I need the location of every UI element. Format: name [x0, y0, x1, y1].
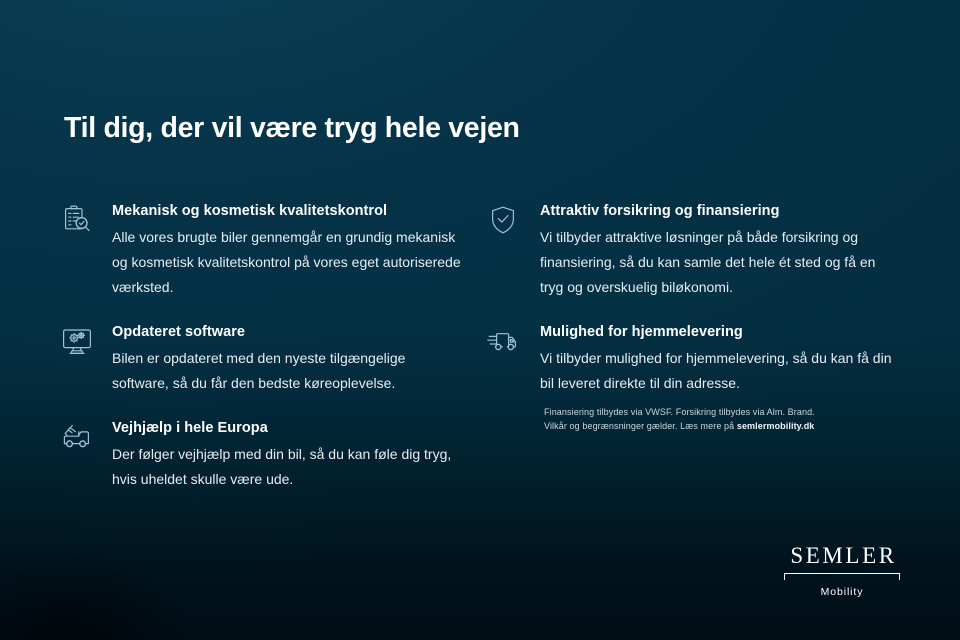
feature-text: Der følger vejhjælp med din bil, så du k… — [112, 442, 464, 492]
feature-item-roadside-assistance: Vejhjælp i hele Europa Der følger vejhjæ… — [56, 418, 484, 492]
feature-item-quality-control: Mekanisk og kosmetisk kvalitetskontrol A… — [56, 201, 484, 300]
delivery-truck-icon — [484, 322, 540, 362]
feature-item-software: Opdateret software Bilen er opdateret me… — [56, 322, 484, 396]
feature-title: Vejhjælp i hele Europa — [112, 419, 484, 438]
clipboard-magnifier-icon — [56, 201, 112, 241]
slide-canvas: Til dig, der vil være tryg hele vejen — [0, 0, 960, 640]
feature-text: Bilen er opdateret med den nyeste tilgæn… — [112, 346, 464, 396]
disclaimer-line-2-prefix: Vilkår og begrænsninger gælder. Læs mere… — [544, 421, 737, 431]
disclaimer: Finansiering tilbydes via VWSF. Forsikri… — [544, 406, 874, 433]
logo-bracket-rule — [780, 573, 904, 581]
page-title: Til dig, der vil være tryg hele vejen — [64, 112, 520, 145]
feature-column-left: Mekanisk og kosmetisk kvalitetskontrol A… — [56, 201, 484, 492]
disclaimer-line-2: Vilkår og begrænsninger gælder. Læs mere… — [544, 420, 874, 434]
feature-title: Opdateret software — [112, 323, 484, 342]
logo-subtitle: Mobility — [780, 586, 904, 598]
feature-title: Mekanisk og kosmetisk kvalitetskontrol — [112, 202, 484, 221]
disclaimer-line-1: Finansiering tilbydes via VWSF. Forsikri… — [544, 406, 874, 420]
feature-title: Attraktiv forsikring og finansiering — [540, 202, 912, 221]
feature-column-right: Attraktiv forsikring og finansiering Vi … — [484, 201, 912, 492]
feature-text: Alle vores brugte biler gennemgår en gru… — [112, 225, 464, 300]
semler-mobility-logo: SEMLER Mobility — [780, 543, 904, 598]
feature-item-home-delivery: Mulighed for hjemmelevering Vi tilbyder … — [484, 322, 912, 396]
feature-item-insurance-financing: Attraktiv forsikring og finansiering Vi … — [484, 201, 912, 300]
feature-text: Vi tilbyder mulighed for hjemmelevering,… — [540, 346, 896, 396]
feature-columns: Mekanisk og kosmetisk kvalitetskontrol A… — [56, 201, 912, 492]
tow-truck-icon — [56, 418, 112, 458]
logo-wordmark: SEMLER — [780, 543, 904, 569]
shield-check-icon — [484, 201, 540, 241]
feature-title: Mulighed for hjemmelevering — [540, 323, 912, 342]
monitor-gears-icon — [56, 322, 112, 362]
semlermobility-link[interactable]: semlermobility.dk — [737, 421, 815, 431]
feature-text: Vi tilbyder attraktive løsninger på både… — [540, 225, 896, 300]
